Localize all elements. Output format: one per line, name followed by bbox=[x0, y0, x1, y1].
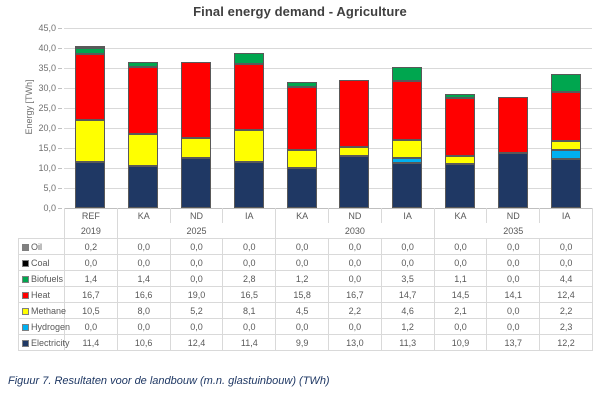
legend-item-hydrogen: Hydrogen bbox=[19, 319, 65, 335]
legend-swatch-icon bbox=[22, 276, 29, 283]
legend-swatch-icon bbox=[22, 308, 29, 315]
table-cell: 10,5 bbox=[65, 303, 118, 319]
bar-segment-biofuels[interactable] bbox=[128, 62, 158, 68]
category-label: ND bbox=[328, 208, 381, 223]
bar-segment-hydrogen[interactable] bbox=[392, 158, 422, 163]
category-label: KA bbox=[276, 208, 329, 223]
y-axis-tick-mark bbox=[58, 128, 62, 129]
table-cell: 0,0 bbox=[381, 239, 434, 255]
bar-segment-heat[interactable] bbox=[128, 67, 158, 133]
bar-segment-methane[interactable] bbox=[551, 141, 581, 150]
table-cell: 2,3 bbox=[540, 319, 593, 335]
bar-segment-heat[interactable] bbox=[75, 54, 105, 121]
table-cell: 0,0 bbox=[223, 239, 276, 255]
bar-slot bbox=[539, 28, 592, 208]
table-cell: 11,3 bbox=[381, 335, 434, 351]
y-axis: Energy [TWh] 0,05,010,015,020,025,030,03… bbox=[0, 28, 62, 208]
table-row: Heat16,716,619,016,515,816,714,714,514,1… bbox=[19, 287, 593, 303]
table-corner-cell bbox=[19, 208, 65, 223]
year-group-label: 2019 bbox=[65, 223, 118, 239]
bar-segment-electricity[interactable] bbox=[128, 166, 158, 208]
year-group-label: 2030 bbox=[276, 223, 434, 239]
bar-segment-electricity[interactable] bbox=[181, 158, 211, 208]
table-cell: 0,0 bbox=[276, 319, 329, 335]
table-cell: 10,6 bbox=[117, 335, 170, 351]
y-axis-tick-label: 15,0 bbox=[2, 143, 56, 153]
stacked-bar[interactable] bbox=[234, 53, 264, 208]
bar-slot bbox=[64, 28, 117, 208]
y-axis-tick-label: 35,0 bbox=[2, 63, 56, 73]
legend-item-electricity: Electricity bbox=[19, 335, 65, 351]
y-axis-tick-label: 20,0 bbox=[2, 123, 56, 133]
stacked-bar[interactable] bbox=[339, 80, 369, 208]
y-axis-tick-label: 5,0 bbox=[2, 183, 56, 193]
legend-item-biofuels: Biofuels bbox=[19, 271, 65, 287]
legend-swatch-icon bbox=[22, 244, 29, 251]
y-axis-tick-mark bbox=[58, 188, 62, 189]
table-row: Electricity11,410,612,411,49,913,011,310… bbox=[19, 335, 593, 351]
table-cell: 16,7 bbox=[328, 287, 381, 303]
table-cell: 16,5 bbox=[223, 287, 276, 303]
table-cell: 0,0 bbox=[487, 319, 540, 335]
table-cell: 5,2 bbox=[170, 303, 223, 319]
table-cell: 0,0 bbox=[328, 239, 381, 255]
table-cell: 0,0 bbox=[276, 255, 329, 271]
table-row: Oil0,20,00,00,00,00,00,00,00,00,0 bbox=[19, 239, 593, 255]
y-axis-tick-mark bbox=[58, 168, 62, 169]
table-cell: 0,0 bbox=[328, 255, 381, 271]
table-cell: 3,5 bbox=[381, 271, 434, 287]
y-axis-tick-mark bbox=[58, 48, 62, 49]
table-row: Methane10,58,05,28,14,52,24,62,10,02,2 bbox=[19, 303, 593, 319]
category-label: KA bbox=[434, 208, 487, 223]
table-cell: 0,0 bbox=[540, 255, 593, 271]
bar-segment-biofuels[interactable] bbox=[287, 82, 317, 87]
table-cell: 0,0 bbox=[170, 319, 223, 335]
category-label: REF bbox=[65, 208, 118, 223]
table-cell: 4,6 bbox=[381, 303, 434, 319]
table-cell: 0,0 bbox=[65, 319, 118, 335]
legend-label: Heat bbox=[31, 290, 50, 300]
bar-segment-methane[interactable] bbox=[181, 138, 211, 159]
table-cell: 0,0 bbox=[487, 239, 540, 255]
table-cell: 14,1 bbox=[487, 287, 540, 303]
bar-segment-methane[interactable] bbox=[287, 150, 317, 168]
bar-segment-biofuels[interactable] bbox=[445, 94, 475, 98]
y-axis-tick-label: 30,0 bbox=[2, 83, 56, 93]
table-cell: 0,2 bbox=[65, 239, 118, 255]
bar-slot bbox=[117, 28, 170, 208]
table-cell: 10,9 bbox=[434, 335, 487, 351]
bar-segment-heat[interactable] bbox=[339, 80, 369, 147]
table-cell: 9,9 bbox=[276, 335, 329, 351]
table-cell: 12,2 bbox=[540, 335, 593, 351]
table-cell: 15,8 bbox=[276, 287, 329, 303]
bar-segment-heat[interactable] bbox=[498, 97, 528, 153]
table-cell: 1,4 bbox=[65, 271, 118, 287]
bar-segment-biofuels[interactable] bbox=[551, 74, 581, 92]
table-cell: 0,0 bbox=[381, 255, 434, 271]
bar-segment-electricity[interactable] bbox=[75, 162, 105, 208]
legend-item-heat: Heat bbox=[19, 287, 65, 303]
table-cell: 0,0 bbox=[170, 271, 223, 287]
legend-label: Hydrogen bbox=[31, 322, 70, 332]
table-cell: 4,4 bbox=[540, 271, 593, 287]
table-cell: 16,7 bbox=[65, 287, 118, 303]
bar-slot bbox=[222, 28, 275, 208]
table-cell: 0,0 bbox=[487, 303, 540, 319]
y-axis-tick-label: 40,0 bbox=[2, 43, 56, 53]
stacked-bar[interactable] bbox=[551, 74, 581, 208]
table-cell: 0,0 bbox=[540, 239, 593, 255]
legend-label: Methane bbox=[31, 306, 66, 316]
legend-label: Biofuels bbox=[31, 274, 63, 284]
legend-label: Coal bbox=[31, 258, 50, 268]
table-cell: 4,5 bbox=[276, 303, 329, 319]
table-cell: 1,2 bbox=[381, 319, 434, 335]
table-cell: 2,1 bbox=[434, 303, 487, 319]
bar-segment-heat[interactable] bbox=[445, 98, 475, 156]
bar-slot bbox=[328, 28, 381, 208]
bar-segment-heat[interactable] bbox=[181, 62, 211, 138]
table-cell: 0,0 bbox=[65, 255, 118, 271]
table-cell: 0,0 bbox=[487, 255, 540, 271]
stacked-bar[interactable] bbox=[498, 97, 528, 208]
category-label: IA bbox=[540, 208, 593, 223]
year-group-label: 2025 bbox=[117, 223, 275, 239]
table-cell: 0,0 bbox=[223, 255, 276, 271]
table-cell: 14,7 bbox=[381, 287, 434, 303]
plot-inner bbox=[64, 28, 592, 208]
bar-segment-methane[interactable] bbox=[339, 147, 369, 156]
bar-segment-heat[interactable] bbox=[392, 81, 422, 140]
category-label: IA bbox=[223, 208, 276, 223]
legend-swatch-icon bbox=[22, 260, 29, 267]
legend-label: Oil bbox=[31, 242, 42, 252]
table-cell: 0,0 bbox=[170, 239, 223, 255]
figure-container: Final energy demand - Agriculture Energy… bbox=[0, 0, 600, 404]
bar-segment-methane[interactable] bbox=[128, 134, 158, 166]
bar-segment-heat[interactable] bbox=[551, 92, 581, 142]
bar-segment-electricity[interactable] bbox=[287, 168, 317, 208]
table-cell: 0,0 bbox=[328, 271, 381, 287]
table-cell: 11,4 bbox=[223, 335, 276, 351]
bar-segment-biofuels[interactable] bbox=[75, 48, 105, 54]
stacked-bar[interactable] bbox=[445, 94, 475, 208]
bar-segment-biofuels[interactable] bbox=[392, 67, 422, 81]
table-cell: 1,1 bbox=[434, 271, 487, 287]
legend-item-oil: Oil bbox=[19, 239, 65, 255]
legend-swatch-icon bbox=[22, 324, 29, 331]
bar-segment-methane[interactable] bbox=[445, 156, 475, 164]
y-axis-tick-mark bbox=[58, 88, 62, 89]
bar-slot bbox=[170, 28, 223, 208]
legend-item-coal: Coal bbox=[19, 255, 65, 271]
bar-segment-methane[interactable] bbox=[392, 140, 422, 158]
table-cell: 0,0 bbox=[434, 239, 487, 255]
data-table: REFKANDIAKANDIAKANDIA2019202520302035Oil… bbox=[18, 208, 593, 351]
table-year-row: 2019202520302035 bbox=[19, 223, 593, 239]
stacked-bar[interactable] bbox=[392, 67, 422, 208]
table-cell: 14,5 bbox=[434, 287, 487, 303]
y-axis-tick-mark bbox=[58, 108, 62, 109]
table-cell: 0,0 bbox=[223, 319, 276, 335]
y-axis-tick-label: 10,0 bbox=[2, 163, 56, 173]
stacked-bar[interactable] bbox=[75, 47, 105, 208]
bar-segment-electricity[interactable] bbox=[339, 156, 369, 208]
plot-area bbox=[64, 28, 592, 208]
table-cell: 2,2 bbox=[328, 303, 381, 319]
bar-segment-electricity[interactable] bbox=[551, 159, 581, 208]
bar-segment-biofuels[interactable] bbox=[234, 53, 264, 64]
category-label: ND bbox=[487, 208, 540, 223]
table-cell: 11,4 bbox=[65, 335, 118, 351]
table-cell: 12,4 bbox=[540, 287, 593, 303]
table-cell: 13,0 bbox=[328, 335, 381, 351]
bar-slot bbox=[434, 28, 487, 208]
y-axis-tick-label: 45,0 bbox=[2, 23, 56, 33]
table-cell: 0,0 bbox=[434, 319, 487, 335]
bar-slot bbox=[275, 28, 328, 208]
bar-segment-heat[interactable] bbox=[234, 64, 264, 130]
stacked-bar[interactable] bbox=[287, 82, 317, 208]
bar-slot bbox=[381, 28, 434, 208]
bar-segment-hydrogen[interactable] bbox=[551, 150, 581, 159]
y-axis-tick-mark bbox=[58, 68, 62, 69]
table-cell: 8,0 bbox=[117, 303, 170, 319]
table-cell: 1,4 bbox=[117, 271, 170, 287]
table-cell: 0,0 bbox=[487, 271, 540, 287]
bar-segment-electricity[interactable] bbox=[445, 164, 475, 208]
bar-slot bbox=[486, 28, 539, 208]
y-axis-tick-mark bbox=[58, 148, 62, 149]
table-category-row: REFKANDIAKANDIAKANDIA bbox=[19, 208, 593, 223]
table-row: Coal0,00,00,00,00,00,00,00,00,00,0 bbox=[19, 255, 593, 271]
table-cell: 16,6 bbox=[117, 287, 170, 303]
table-row: Biofuels1,41,40,02,81,20,03,51,10,04,4 bbox=[19, 271, 593, 287]
table-cell: 0,0 bbox=[117, 239, 170, 255]
category-label: ND bbox=[170, 208, 223, 223]
chart-title: Final energy demand - Agriculture bbox=[0, 4, 600, 19]
table-cell: 2,8 bbox=[223, 271, 276, 287]
bar-segment-electricity[interactable] bbox=[234, 162, 264, 208]
figure-caption: Figuur 7. Resultaten voor de landbouw (m… bbox=[8, 375, 330, 387]
table-cell: 12,4 bbox=[170, 335, 223, 351]
table-cell: 1,2 bbox=[276, 271, 329, 287]
bar-segment-electricity[interactable] bbox=[498, 153, 528, 208]
table-cell: 8,1 bbox=[223, 303, 276, 319]
legend-item-methane: Methane bbox=[19, 303, 65, 319]
bar-segment-electricity[interactable] bbox=[392, 163, 422, 208]
table-cell: 0,0 bbox=[328, 319, 381, 335]
table-cell: 0,0 bbox=[117, 255, 170, 271]
bar-segment-methane[interactable] bbox=[75, 120, 105, 162]
legend-swatch-icon bbox=[22, 292, 29, 299]
bar-segment-oil[interactable] bbox=[75, 46, 105, 48]
legend-label: Electricity bbox=[31, 338, 70, 348]
table-cell: 2,2 bbox=[540, 303, 593, 319]
table-cell: 13,7 bbox=[487, 335, 540, 351]
table-row: Hydrogen0,00,00,00,00,00,01,20,00,02,3 bbox=[19, 319, 593, 335]
table-cell: 0,0 bbox=[276, 239, 329, 255]
stacked-bar[interactable] bbox=[128, 62, 158, 208]
table-corner-cell bbox=[19, 223, 65, 239]
bar-segment-heat[interactable] bbox=[287, 87, 317, 150]
y-axis-tick-mark bbox=[58, 28, 62, 29]
table-cell: 19,0 bbox=[170, 287, 223, 303]
stacked-bar[interactable] bbox=[181, 62, 211, 208]
category-label: IA bbox=[381, 208, 434, 223]
bar-segment-methane[interactable] bbox=[234, 130, 264, 162]
year-group-label: 2035 bbox=[434, 223, 592, 239]
legend-swatch-icon bbox=[22, 340, 29, 347]
table-cell: 0,0 bbox=[117, 319, 170, 335]
table-cell: 0,0 bbox=[170, 255, 223, 271]
category-label: KA bbox=[117, 208, 170, 223]
table-cell: 0,0 bbox=[434, 255, 487, 271]
y-axis-tick-label: 25,0 bbox=[2, 103, 56, 113]
